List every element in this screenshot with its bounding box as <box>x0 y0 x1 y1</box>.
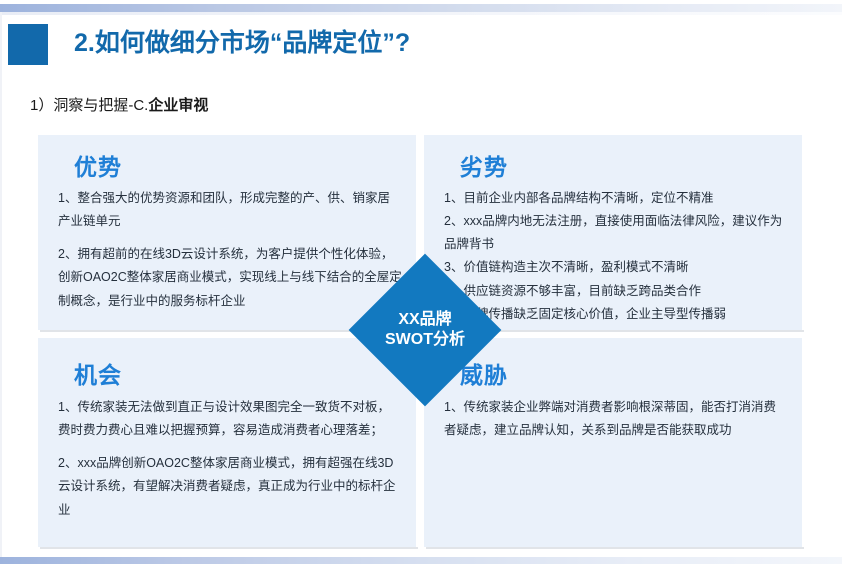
quadrant-threats: 威胁 1、传统家装企业弊端对消费者影响根深蒂固，能否打消消费者疑虑，建立品牌认知… <box>424 338 802 547</box>
quadrant-body-opportunities: 1、传统家装无法做到直正与设计效果图完全一致货不对板，费时费力费心且难以把握预算… <box>58 396 402 522</box>
subtitle-bold-text: 企业审视 <box>148 97 208 114</box>
page-title: 2.如何做细分市场“品牌定位”? <box>74 21 410 65</box>
quadrant-shadow-weaknesses <box>426 330 804 332</box>
quadrant-opportunities: 机会 1、传统家装无法做到直正与设计效果图完全一致货不对板，费时费力费心且难以把… <box>38 338 416 547</box>
slide-subtitle: 1）洞察与把握-C.企业审视 <box>30 94 208 115</box>
left-edge-strip <box>0 12 2 558</box>
opportunities-item-2: 2、xxx品牌创新OAO2C整体家居商业模式，拥有超强在线3D云设计系统，有望解… <box>58 452 402 521</box>
weaknesses-item-4: 4、供应链资源不够丰富，目前缺乏跨品类合作 <box>444 280 788 303</box>
quadrant-shadow-threats <box>426 547 804 549</box>
threats-item-1: 1、传统家装企业弊端对消费者影响根深蒂固，能否打消消费者疑虑，建立品牌认知，关系… <box>444 396 788 442</box>
strengths-item-2: 2、拥有超前的在线3D云设计系统，为客户提供个性化体验，创新OAO2C整体家居商… <box>58 243 402 312</box>
quadrant-heading-opportunities: 机会 <box>74 356 122 390</box>
quadrant-heading-threats: 威胁 <box>460 356 508 390</box>
bottom-decorative-rail <box>0 557 842 564</box>
weaknesses-item-2: 2、xxx品牌内地无法注册，直接使用面临法律风险，建议作为品牌背书 <box>444 210 788 256</box>
quadrant-body-strengths: 1、整合强大的优势资源和团队，形成完整的产、供、销家居产业链单元 2、拥有超前的… <box>58 187 402 313</box>
quadrant-weaknesses: 劣势 1、目前企业内部各品牌结构不清晰，定位不精准 2、xxx品牌内地无法注册，… <box>424 135 802 330</box>
subtitle-number: 1） <box>30 97 53 114</box>
quadrant-shadow-strengths <box>40 330 418 332</box>
strengths-item-1: 1、整合强大的优势资源和团队，形成完整的产、供、销家居产业链单元 <box>58 187 402 233</box>
top-decorative-rail <box>0 4 842 12</box>
weaknesses-item-3: 3、价值链构造主次不清晰，盈利模式不清晰 <box>444 256 788 279</box>
quadrant-heading-weaknesses: 劣势 <box>460 148 508 182</box>
slide-header: 2.如何做细分市场“品牌定位”? <box>0 24 842 68</box>
quadrant-body-threats: 1、传统家装企业弊端对消费者影响根深蒂固，能否打消消费者疑虑，建立品牌认知，关系… <box>444 396 788 442</box>
quadrant-strengths: 优势 1、整合强大的优势资源和团队，形成完整的产、供、销家居产业链单元 2、拥有… <box>38 135 416 330</box>
quadrant-heading-strengths: 优势 <box>74 148 122 182</box>
opportunities-item-1: 1、传统家装无法做到直正与设计效果图完全一致货不对板，费时费力费心且难以把握预算… <box>58 396 402 442</box>
weaknesses-item-1: 1、目前企业内部各品牌结构不清晰，定位不精准 <box>444 187 788 210</box>
subtitle-normal-text: 洞察与把握-C. <box>53 97 148 114</box>
quadrant-shadow-opportunities <box>40 547 418 549</box>
quadrant-body-weaknesses: 1、目前企业内部各品牌结构不清晰，定位不精准 2、xxx品牌内地无法注册，直接使… <box>444 187 788 326</box>
swot-matrix: 优势 1、整合强大的优势资源和团队，形成完整的产、供、销家居产业链单元 2、拥有… <box>38 135 802 547</box>
top-rail-shadow <box>0 12 842 15</box>
weaknesses-item-5: 5、品牌传播缺乏固定核心价值，企业主导型传播弱 <box>444 303 788 326</box>
title-accent-block <box>8 24 48 65</box>
